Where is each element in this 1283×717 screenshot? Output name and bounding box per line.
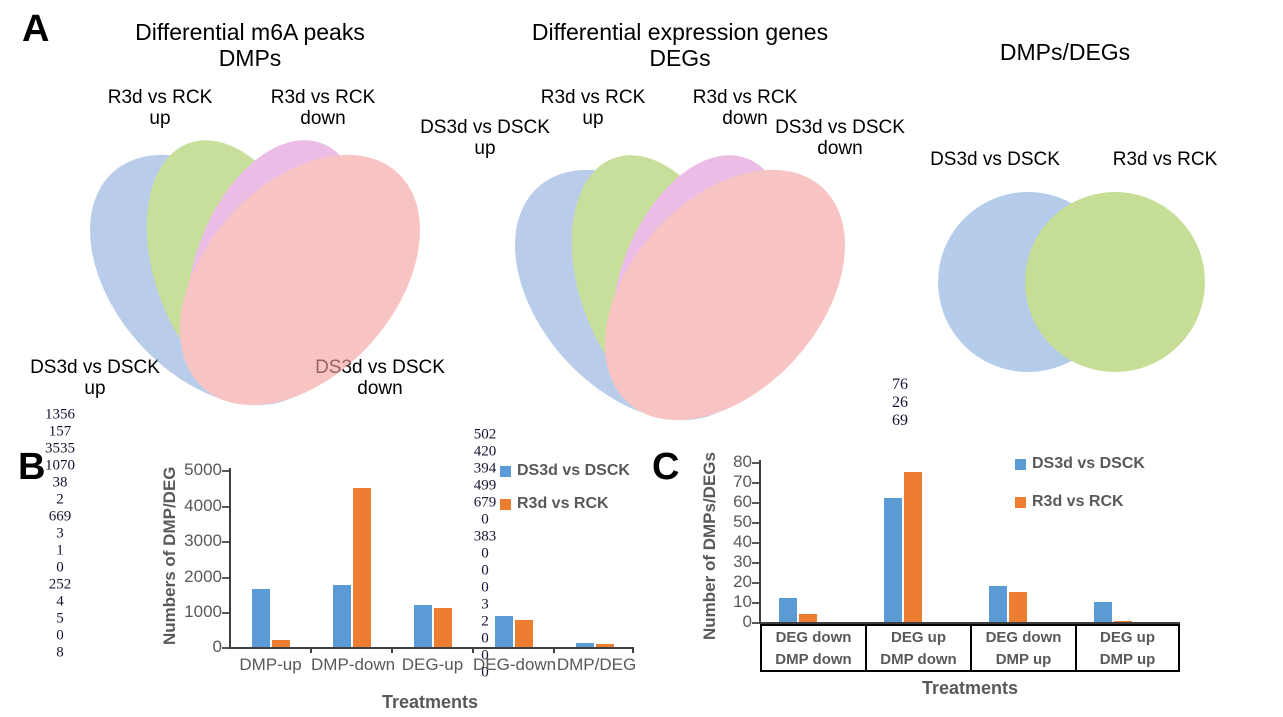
chart-c-bar-r3d-degup-dmpdown [904, 472, 922, 622]
chart-c-ytick-3: 30 [712, 552, 752, 572]
chart-b-xsep [310, 647, 312, 653]
legend-swatch-ds3d-icon [500, 466, 511, 477]
chart-c-ytick-2: 20 [712, 572, 752, 592]
chart-c-xcat-1-line2: DMP down [880, 651, 956, 668]
chart-b-xcat-4: DMP/DEG [554, 655, 639, 675]
chart-b-ytick-2: 2000 [172, 567, 222, 587]
venn3-title: DMPs/DEGs [955, 40, 1175, 66]
chart-b-xcat-2: DEG-up [392, 655, 473, 675]
chart-c-legend-item-r3d: R3d vs RCK [1015, 493, 1124, 511]
venn2-title-line2: DEGs [500, 46, 860, 72]
chart-b-legend-label-r3d: R3d vs RCK [517, 495, 609, 513]
chart-c-xcat-3-line2: DMP up [1100, 651, 1156, 668]
chart-b-xcat-0: DMP-up [230, 655, 311, 675]
chart-c-xcat-2-line2: DMP up [996, 651, 1052, 668]
chart-b-tickmark [222, 506, 229, 508]
chart-b-tickmark [222, 647, 229, 649]
chart-b-bar-ds3d-dmp-deg [576, 643, 594, 647]
chart-c-legend-label-r3d: R3d vs RCK [1032, 493, 1124, 511]
chart-c-xcat-0-line2: DMP down [775, 651, 851, 668]
chart-c-tickmark [752, 582, 759, 584]
venn2-title-line1: Differential expression genes [500, 20, 860, 46]
venn2-count-magenta-red: 383 [290, 529, 680, 546]
chart-c-ytick-8: 80 [712, 452, 752, 472]
chart-c-tickmark [752, 562, 759, 564]
chart-b-bar-r3d-dmp-up [272, 640, 290, 647]
chart-b-tickmark [222, 541, 229, 543]
venn3-circle-right [1025, 192, 1205, 372]
chart-c-xcat-2-line1: DEG down [986, 629, 1062, 646]
venn1-ellipses [60, 120, 450, 410]
chart-c-xcat-box-0: DEG down DMP down [760, 624, 865, 672]
chart-c-legend-item-ds3d: DS3d vs DSCK [1015, 455, 1145, 473]
chart-b-bar-ds3d-dmp-down [333, 585, 351, 647]
panel-label-c: C [652, 448, 679, 486]
chart-b-xcat-1: DMP-down [311, 655, 392, 675]
chart-b-xsep [632, 647, 634, 653]
chart-b-bar-ds3d-deg-up [414, 605, 432, 647]
venn2-count-green-magenta: 0 [290, 512, 680, 529]
chart-c-ytick-4: 40 [712, 532, 752, 552]
chart-c-bar-ds3d-degdown-dmpdown [779, 598, 797, 622]
chart-c-bar-r3d-degup-dmpup [1114, 621, 1132, 622]
chart-c-bar-ds3d-degdown-dmpup [989, 586, 1007, 622]
chart-b-legend-label-ds3d: DS3d vs DSCK [517, 462, 630, 480]
chart-c-tickmark [752, 462, 759, 464]
venn1-title-line1: Differential m6A peaks [80, 20, 420, 46]
chart-c-bar-r3d-degdown-dmpup [1009, 592, 1027, 622]
chart-c-xcat-box-1: DEG up DMP down [865, 624, 970, 672]
chart-b-ytick-3: 3000 [172, 531, 222, 551]
chart-b-ytick-5: 5000 [172, 460, 222, 480]
chart-b-legend-item-r3d: R3d vs RCK [500, 495, 609, 513]
chart-b-bar-ds3d-deg-down [495, 616, 513, 647]
venn3-circles [900, 185, 1240, 380]
chart-b-xlabel: Treatments [300, 692, 560, 713]
venn2-title: Differential expression genes DEGs [500, 20, 860, 72]
chart-b-tickmark [222, 470, 229, 472]
chart-c-tickmark [752, 502, 759, 504]
venn1-count-blue-only: 1356 [0, 407, 255, 424]
chart-b-tickmark [222, 612, 229, 614]
venn1-diagram: 1356 157 3535 1070 38 2 669 3 1 0 252 4 … [60, 120, 450, 410]
venn2-count-red-only: 499 [290, 478, 680, 495]
venn1-title: Differential m6A peaks DMPs [80, 20, 420, 72]
chart-c-tickmark [752, 542, 759, 544]
chart-c-yaxis [759, 460, 761, 624]
chart-c-tickmark [752, 602, 759, 604]
venn1-title-line2: DMPs [80, 46, 420, 72]
chart-c-tickmark [752, 482, 759, 484]
venn3-label-right: R3d vs RCK [1085, 150, 1245, 171]
chart-c-bar-ds3d-degup-dmpup [1094, 602, 1112, 622]
chart-c-xcat-box-2: DEG down DMP up [970, 624, 1075, 672]
chart-b-ytick-0: 0 [172, 637, 222, 657]
chart-b-bar-r3d-deg-up [434, 608, 452, 647]
chart-c-tickmark [752, 622, 759, 624]
chart-c-ytick-5: 50 [712, 512, 752, 532]
chart-c-ytick-0: 0 [712, 612, 752, 632]
venn2-count-green-magenta-red: 0 [290, 563, 680, 580]
venn3-count-intersection: 26 [730, 394, 1070, 412]
venn3-count-left-only: 76 [730, 376, 1070, 394]
chart-b-xcat-3: DEG-down [473, 655, 554, 675]
chart-c-xcat-1-line1: DEG up [891, 629, 946, 646]
chart-c-ytick-7: 70 [712, 472, 752, 492]
venn3-diagram: 76 26 69 [900, 185, 1240, 380]
chart-b-legend-item-ds3d: DS3d vs DSCK [500, 462, 630, 480]
panel-label-a: A [22, 10, 49, 48]
chart-c-legend-label-ds3d: DS3d vs DSCK [1032, 455, 1145, 473]
chart-c-xcat-3-line1: DEG up [1100, 629, 1155, 646]
venn2-count-blue-green: 679 [290, 495, 680, 512]
legend-swatch-r3d-icon [1015, 497, 1026, 508]
chart-c-xlabel: Treatments [840, 678, 1100, 699]
chart-b-ytick-4: 4000 [172, 496, 222, 516]
chart-c-tickmark [752, 522, 759, 524]
chart-c-bar-r3d-degdown-dmpdown [799, 614, 817, 622]
panel-label-b: B [18, 448, 45, 486]
chart-b-yaxis [229, 468, 231, 649]
chart-b-bar-r3d-dmp-down [353, 488, 371, 647]
venn3-label-left: DS3d vs DSCK [905, 150, 1085, 171]
chart-b-xaxis [229, 647, 634, 649]
venn2-count-blue-only: 502 [290, 427, 680, 444]
venn1-count-green-only: 157 [0, 424, 255, 441]
chart-c-ytick-1: 10 [712, 592, 752, 612]
chart-b-xsep [553, 647, 555, 653]
chart-b-ytick-1: 1000 [172, 602, 222, 622]
chart-b-bar-ds3d-dmp-up [252, 589, 270, 647]
legend-swatch-r3d-icon [500, 499, 511, 510]
chart-c-bar-ds3d-degup-dmpdown [884, 498, 902, 622]
venn3-count-right-only: 69 [730, 412, 1070, 430]
chart-b-bar-r3d-deg-down [515, 620, 533, 647]
chart-b-xsep [391, 647, 393, 653]
chart-b-bar-r3d-dmp-deg [596, 644, 614, 647]
chart-b-xsep [472, 647, 474, 653]
legend-swatch-ds3d-icon [1015, 459, 1026, 470]
venn2-count-blue-green-magenta: 0 [290, 546, 680, 563]
chart-c-xcat-box-3: DEG up DMP up [1075, 624, 1180, 672]
venn2-count-green-only: 420 [290, 444, 680, 461]
chart-b-tickmark [222, 577, 229, 579]
chart-c-ytick-6: 60 [712, 492, 752, 512]
chart-c-xcat-0-line1: DEG down [776, 629, 852, 646]
